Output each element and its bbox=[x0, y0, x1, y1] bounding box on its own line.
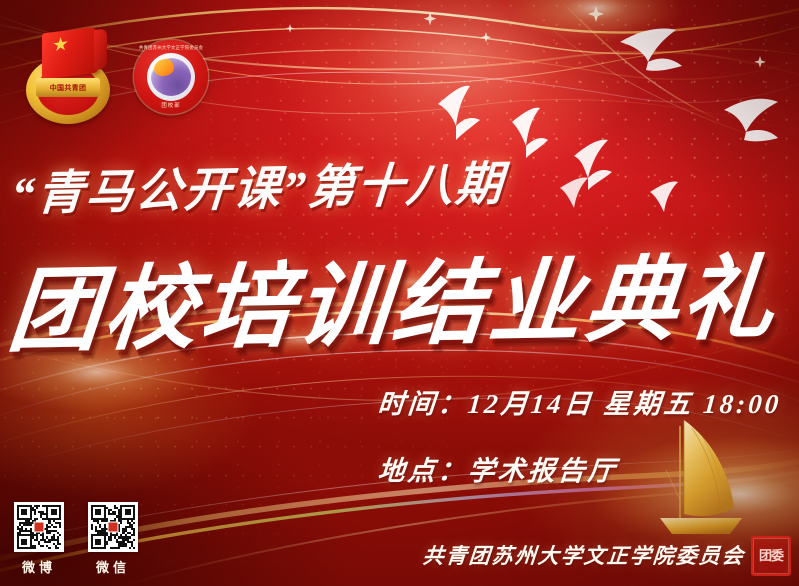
qr-center-logo bbox=[34, 522, 45, 533]
emblem-ring-bottom-text: 团校部 bbox=[134, 101, 208, 109]
red-flag-icon bbox=[42, 27, 98, 80]
emblem-band-text: 中国共青团 bbox=[50, 83, 87, 93]
event-info: 时间：12月14日 星期五 18:00 地点：学术报告厅 bbox=[378, 382, 782, 488]
official-seal-icon: 团委 bbox=[751, 536, 791, 576]
school-youth-league-emblem-icon: 共青团苏州大学文正学院委员会 团校部 bbox=[134, 40, 208, 114]
poster-subtitle: “青马公开课”第十八期 bbox=[9, 145, 484, 224]
communist-youth-league-emblem-icon: 中国共青团 bbox=[20, 26, 116, 128]
event-place: 地点：学术报告厅 bbox=[376, 449, 783, 488]
qr-code-icon[interactable] bbox=[88, 502, 138, 552]
flame-shape bbox=[154, 59, 174, 76]
event-time: 时间：12月14日 星期五 18:00 bbox=[376, 382, 783, 421]
social-label: 微信 bbox=[96, 557, 130, 576]
qr-code-icon[interactable] bbox=[14, 502, 64, 552]
emblem-group: 中国共青团 共青团苏州大学文正学院委员会 团校部 bbox=[20, 26, 208, 128]
social-qr-group: 微博 微信 bbox=[14, 502, 138, 576]
emblem-band: 中国共青团 bbox=[36, 78, 100, 97]
poster-title: 团校培训结业典礼 bbox=[3, 223, 799, 370]
organizer-name: 共青团苏州大学文正学院委员会 bbox=[422, 540, 747, 570]
social-label: 微博 bbox=[22, 557, 56, 576]
event-poster: 中国共青团 共青团苏州大学文正学院委员会 团校部 “青马公开课”第十八期 团校培… bbox=[0, 0, 799, 586]
social-weibo[interactable]: 微博 bbox=[14, 502, 64, 576]
qr-center-logo bbox=[108, 522, 119, 533]
emblem-inner-disc bbox=[147, 53, 195, 101]
social-wechat[interactable]: 微信 bbox=[88, 502, 138, 576]
emblem-ring-top-text: 共青团苏州大学文正学院委员会 bbox=[134, 45, 208, 51]
sparkle-icon bbox=[286, 6, 766, 68]
seal-text: 团委 bbox=[759, 549, 783, 563]
